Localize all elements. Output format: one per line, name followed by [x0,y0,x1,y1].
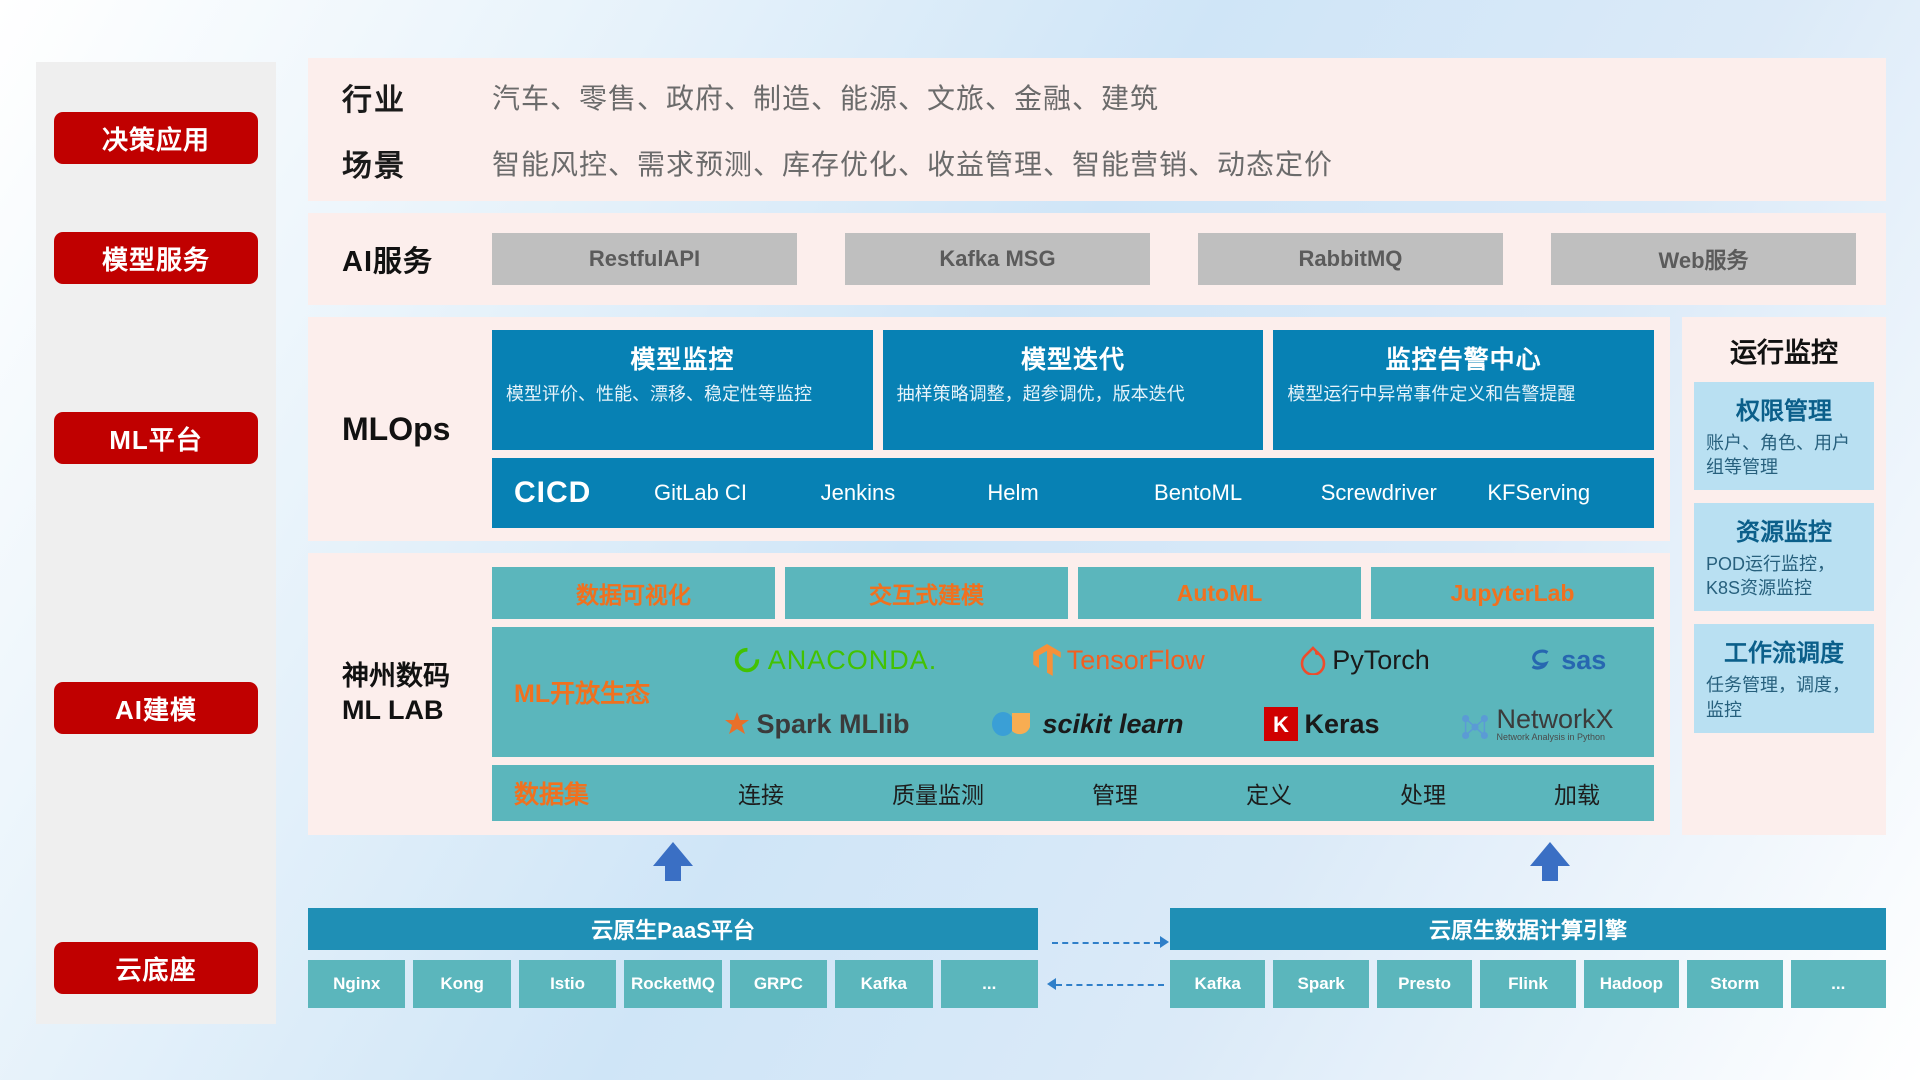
ml-lab-label-line2: ML LAB [342,694,492,728]
anaconda-logo: ANACONDA. [732,645,938,676]
industry-row: 行业 汽车、零售、政府、制造、能源、文旅、金融、建筑 [342,75,1886,119]
tensorflow-logo: TensorFlow [1033,644,1205,676]
paas-chip-rocketmq[interactable]: RocketMQ [624,960,721,1008]
engine-chip-flink[interactable]: Flink [1480,960,1575,1008]
cicd-item-helm[interactable]: Helm [987,479,1154,507]
ml-open-ecosystem-label: ML开放生态 [514,674,684,710]
mlops-card-model-monitoring[interactable]: 模型监控 模型评价、性能、漂移、稳定性等监控 [492,330,873,450]
networkx-sublabel: Network Analysis in Python [1496,733,1613,742]
dataset-row: 数据集 连接 质量监测 管理 定义 处理 加载 [492,765,1654,821]
card-title: 模型迭代 [897,340,1250,376]
engine-chip-hadoop[interactable]: Hadoop [1584,960,1679,1008]
card-desc: 账户、角色、用户组等管理 [1706,431,1862,479]
rail-item-cloud-base[interactable]: 云底座 [54,942,258,994]
monitor-card-permission[interactable]: 权限管理 账户、角色、用户组等管理 [1694,382,1874,490]
networkx-logo: NetworkX Network Analysis in Python [1460,706,1613,742]
monitor-card-resource[interactable]: 资源监控 POD运行监控，K8S资源监控 [1694,503,1874,611]
anaconda-label: ANACONDA. [768,645,938,676]
mlops-card-alert-center[interactable]: 监控告警中心 模型运行中异常事件定义和告警提醒 [1273,330,1654,450]
card-desc: 任务管理，调度，监控 [1706,673,1862,721]
sas-logo: sas [1525,645,1606,676]
spark-star-icon [724,711,750,737]
paas-chip-nginx[interactable]: Nginx [308,960,405,1008]
rail-item-ai-modeling[interactable]: AI建模 [54,682,258,734]
dash-arrow-right-icon [1160,936,1169,948]
ai-service-band: AI服务 RestfulAPI Kafka MSG RabbitMQ Web服务 [308,213,1886,305]
ml-lab-label: 神州数码 ML LAB [342,660,492,728]
keras-label: Keras [1304,709,1379,740]
arrow-stem-paas [665,865,681,881]
cloud-native-paas-column: 云原生PaaS平台 Nginx Kong Istio RocketMQ GRPC… [308,908,1038,1008]
cicd-item-kfserving[interactable]: KFServing [1487,479,1654,507]
cloud-native-paas-header: 云原生PaaS平台 [308,908,1038,950]
networkx-label: NetworkX [1496,706,1613,733]
paas-chip-istio[interactable]: Istio [519,960,616,1008]
svg-text:K: K [1274,712,1290,737]
stack-layer-rail: 决策应用 模型服务 ML平台 AI建模 云底座 [36,62,276,1024]
dataset-item-load[interactable]: 加载 [1554,776,1600,810]
card-desc: POD运行监控，K8S资源监控 [1706,552,1862,600]
cicd-item-jenkins[interactable]: Jenkins [821,479,988,507]
tensorflow-icon [1033,644,1061,676]
card-desc: 模型评价、性能、漂移、稳定性等监控 [506,383,859,407]
spark-mllib-logo: Spark MLlib [724,709,909,740]
card-title: 监控告警中心 [1287,340,1640,376]
ai-service-label: AI服务 [342,238,492,280]
scikit-learn-icon [990,709,1036,739]
spark-mllib-label: Spark MLlib [756,709,909,740]
paas-chip-more[interactable]: ... [941,960,1038,1008]
arrow-up-paas-icon [653,842,693,866]
engine-chip-kafka[interactable]: Kafka [1170,960,1265,1008]
dataset-item-quality-mon[interactable]: 质量监测 [892,776,984,810]
dash-arrow-left-icon [1047,978,1056,990]
service-chip-web-service[interactable]: Web服务 [1551,233,1856,285]
cloud-base-section: 云原生PaaS平台 Nginx Kong Istio RocketMQ GRPC… [308,880,1886,1040]
pytorch-logo: PyTorch [1300,645,1430,676]
lab-tab-jupyterlab[interactable]: JupyterLab [1371,567,1654,619]
card-title: 工作流调度 [1724,633,1844,668]
dash-line-left [1056,984,1164,986]
dataset-item-define[interactable]: 定义 [1246,776,1292,810]
dataset-item-process[interactable]: 处理 [1400,776,1446,810]
sas-label: sas [1561,645,1606,676]
rail-item-ml-platform[interactable]: ML平台 [54,412,258,464]
dash-line-right [1052,942,1160,944]
dataset-item-connect[interactable]: 连接 [738,776,784,810]
service-chip-kafka-msg[interactable]: Kafka MSG [845,233,1150,285]
card-title: 模型监控 [506,340,859,376]
cicd-title: CICD [514,476,654,510]
cloud-native-compute-engine-column: 云原生数据计算引擎 Kafka Spark Presto Flink Hadoo… [1170,908,1886,1008]
rail-item-decision-app[interactable]: 决策应用 [54,112,258,164]
paas-chip-kong[interactable]: Kong [413,960,510,1008]
dataset-title: 数据集 [514,775,684,811]
engine-chip-storm[interactable]: Storm [1687,960,1782,1008]
mlops-label: MLOps [342,411,492,448]
cicd-item-bentoml[interactable]: BentoML [1154,479,1321,507]
lab-tab-data-visualization[interactable]: 数据可视化 [492,567,775,619]
mlops-card-model-iteration[interactable]: 模型迭代 抽样策略调整，超参调优，版本迭代 [883,330,1264,450]
card-title: 权限管理 [1736,391,1832,426]
runtime-monitoring-title: 运行监控 [1730,331,1838,370]
card-title: 资源监控 [1736,512,1832,547]
arrow-up-engine-icon [1530,842,1570,866]
industry-key: 行业 [342,75,492,119]
pytorch-label: PyTorch [1332,645,1430,676]
ml-open-ecosystem-row: ML开放生态 ANACONDA. [492,627,1654,757]
cicd-item-gitlab-ci[interactable]: GitLab CI [654,479,821,507]
architecture-main: 行业 汽车、零售、政府、制造、能源、文旅、金融、建筑 场景 智能风控、需求预测、… [308,58,1886,835]
arrow-stem-engine [1542,865,1558,881]
tensorflow-label: TensorFlow [1067,645,1205,676]
keras-icon: K [1264,707,1298,741]
keras-logo: K Keras [1264,707,1379,741]
dataset-item-manage[interactable]: 管理 [1092,776,1138,810]
mlops-band: MLOps 模型监控 模型评价、性能、漂移、稳定性等监控 模型迭代 抽样策略调整… [308,317,1670,541]
scikit-learn-logo: scikit learn [990,709,1183,740]
industry-value: 汽车、零售、政府、制造、能源、文旅、金融、建筑 [492,77,1159,117]
scikit-learn-label: scikit learn [1042,709,1183,740]
rail-item-model-service[interactable]: 模型服务 [54,232,258,284]
runtime-monitoring-panel: 运行监控 权限管理 账户、角色、用户组等管理 资源监控 POD运行监控，K8S资… [1682,317,1886,835]
paas-chip-grpc[interactable]: GRPC [730,960,827,1008]
engine-chip-more[interactable]: ... [1791,960,1886,1008]
engine-chip-spark[interactable]: Spark [1273,960,1368,1008]
service-chip-rabbitmq[interactable]: RabbitMQ [1198,233,1503,285]
cloud-native-compute-engine-header: 云原生数据计算引擎 [1170,908,1886,950]
pytorch-icon [1300,645,1326,675]
ml-lab-label-line1: 神州数码 [342,660,492,694]
scenario-key: 场景 [342,141,492,185]
monitor-card-workflow[interactable]: 工作流调度 任务管理，调度，监控 [1694,624,1874,732]
scenario-value: 智能风控、需求预测、库存优化、收益管理、智能营销、动态定价 [492,143,1333,183]
service-chip-restfulapi[interactable]: RestfulAPI [492,233,797,285]
card-desc: 模型运行中异常事件定义和告警提醒 [1287,383,1640,407]
cicd-bar: CICD GitLab CI Jenkins Helm BentoML Scre… [492,458,1654,528]
networkx-icon [1460,712,1490,742]
cicd-item-screwdriver[interactable]: Screwdriver [1321,479,1488,507]
scenario-row: 场景 智能风控、需求预测、库存优化、收益管理、智能营销、动态定价 [342,141,1886,185]
sas-icon [1525,645,1555,675]
engine-chip-presto[interactable]: Presto [1377,960,1472,1008]
lab-tab-interactive-modeling[interactable]: 交互式建模 [785,567,1068,619]
anaconda-icon [732,645,762,675]
paas-chip-kafka[interactable]: Kafka [835,960,932,1008]
ml-lab-band: 神州数码 ML LAB 数据可视化 交互式建模 AutoML JupyterLa… [308,553,1670,835]
card-desc: 抽样策略调整，超参调优，版本迭代 [897,383,1250,407]
lab-tab-automl[interactable]: AutoML [1078,567,1361,619]
decision-application-band: 行业 汽车、零售、政府、制造、能源、文旅、金融、建筑 场景 智能风控、需求预测、… [308,58,1886,201]
